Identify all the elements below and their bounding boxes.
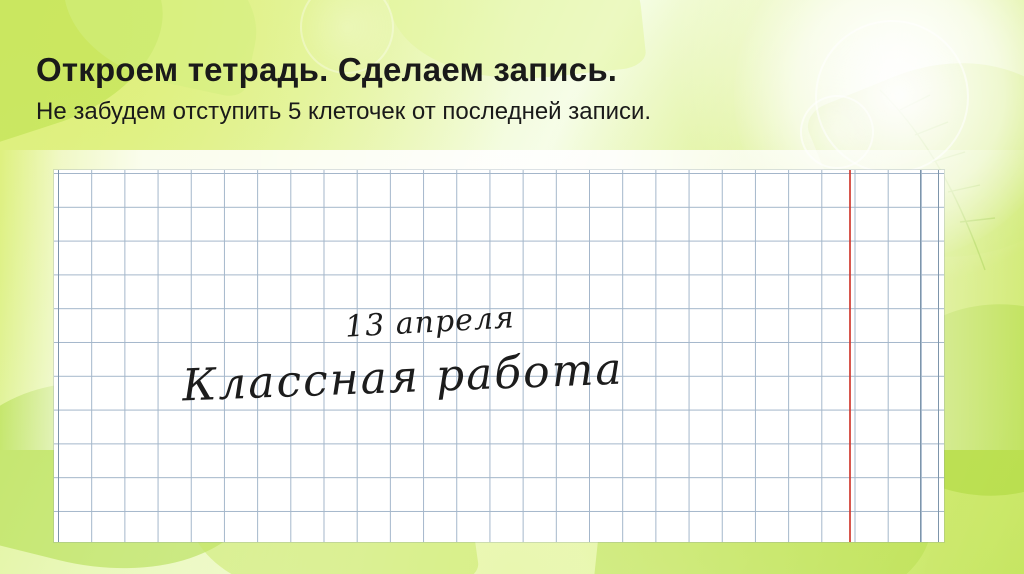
page-subtitle: Не забудем отступить 5 клеточек от после…	[36, 98, 651, 126]
slide: Откроем тетрадь. Сделаем запись. Не забу…	[0, 0, 1024, 574]
notebook-left-edge-line	[58, 170, 59, 542]
heading-block: Откроем тетрадь. Сделаем запись. Не забу…	[36, 52, 651, 126]
notebook-right-edge-line-1	[920, 170, 921, 542]
page-title: Откроем тетрадь. Сделаем запись.	[36, 52, 651, 88]
notebook-right-edge-line-2	[938, 170, 939, 542]
notebook-red-margin	[849, 170, 851, 542]
